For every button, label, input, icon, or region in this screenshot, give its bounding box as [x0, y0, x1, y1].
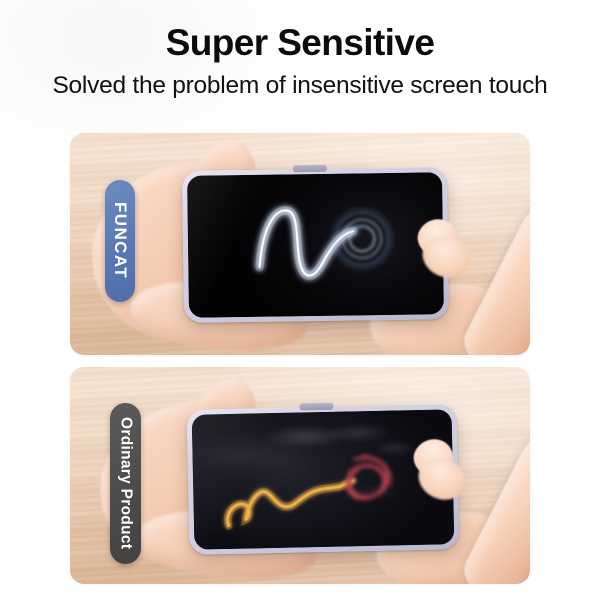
smartphone-device — [182, 167, 449, 323]
touch-trace-smooth — [187, 172, 444, 318]
badge-ordinary-product: Ordinary Product — [110, 403, 141, 564]
touch-trace-broken — [192, 409, 455, 549]
phone-screen — [187, 172, 444, 318]
promo-page: Super Sensitive Solved the problem of in… — [0, 0, 600, 600]
phone-side-button — [300, 403, 334, 411]
badge-funcat: FUNCAT — [105, 180, 135, 302]
page-title: Super Sensitive — [0, 0, 600, 63]
page-subtitle: Solved the problem of insensitive screen… — [0, 63, 600, 100]
phone-screen — [192, 409, 455, 549]
phone-side-button — [293, 165, 327, 172]
comparison-panel-funcat — [70, 133, 530, 355]
header: Super Sensitive Solved the problem of in… — [0, 0, 600, 100]
